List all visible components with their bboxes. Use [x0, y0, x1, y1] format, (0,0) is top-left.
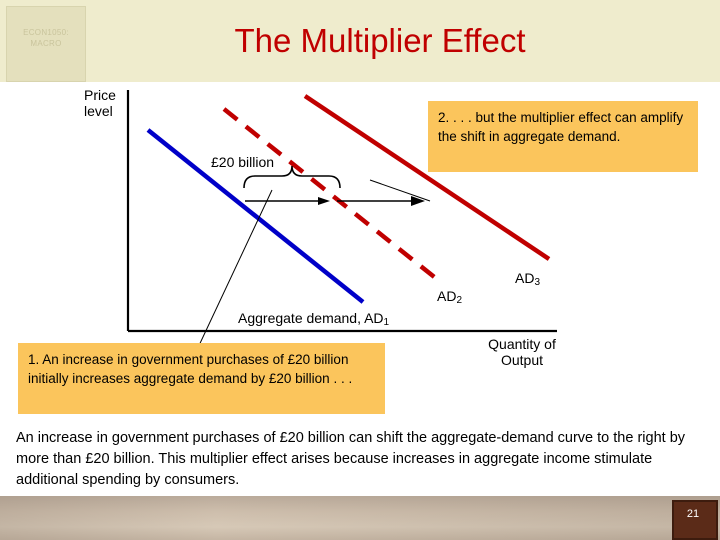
- course-logo-text: ECON1050: MACRO: [7, 27, 85, 49]
- x-axis-label: Quantity of Output: [452, 336, 592, 368]
- ad2-label-subscript: 2: [456, 295, 462, 306]
- page-title: The Multiplier Effect: [100, 22, 660, 60]
- shift-arrow-2-head: [411, 196, 425, 206]
- ad2-label-text: AD: [437, 288, 456, 304]
- y-axis-label: Price level: [84, 87, 154, 119]
- y-axis-label-line1: Price: [84, 87, 116, 103]
- course-logo-line2: MACRO: [30, 39, 61, 48]
- ad3-label-subscript: 3: [534, 277, 540, 288]
- slide-number-text: 21: [672, 508, 714, 520]
- shift-amount-label: £20 billion: [211, 154, 274, 170]
- callout-2-leader: [370, 180, 430, 201]
- course-logo-line1: ECON1050:: [23, 28, 69, 37]
- shift-arrow-1-head: [318, 197, 330, 205]
- x-axis-label-line1: Quantity of: [488, 336, 556, 352]
- callout-multiplier-effect: 2. . . . but the multiplier effect can a…: [428, 101, 698, 172]
- slide-caption: An increase in government purchases of £…: [16, 428, 706, 491]
- slide-canvas: ECON1050: MACRO The Multiplier Effect: [0, 0, 720, 540]
- ad3-label-text: AD: [515, 270, 534, 286]
- ad2-label: AD2: [437, 288, 462, 306]
- course-logo: ECON1050: MACRO: [6, 6, 86, 82]
- y-axis-label-line2: level: [84, 103, 113, 119]
- x-axis-label-line2: Output: [501, 352, 543, 368]
- ad1-label-text: Aggregate demand, AD: [238, 310, 384, 326]
- ad2-curve: [224, 109, 438, 280]
- footer-photo-strip: [0, 496, 720, 540]
- ad1-label-subscript: 1: [384, 317, 390, 328]
- callout-government-purchases: 1. An increase in government purchases o…: [18, 343, 385, 414]
- ad1-label: Aggregate demand, AD1: [238, 310, 448, 331]
- slide-number-badge: [672, 500, 718, 540]
- ad3-label: AD3: [515, 270, 540, 288]
